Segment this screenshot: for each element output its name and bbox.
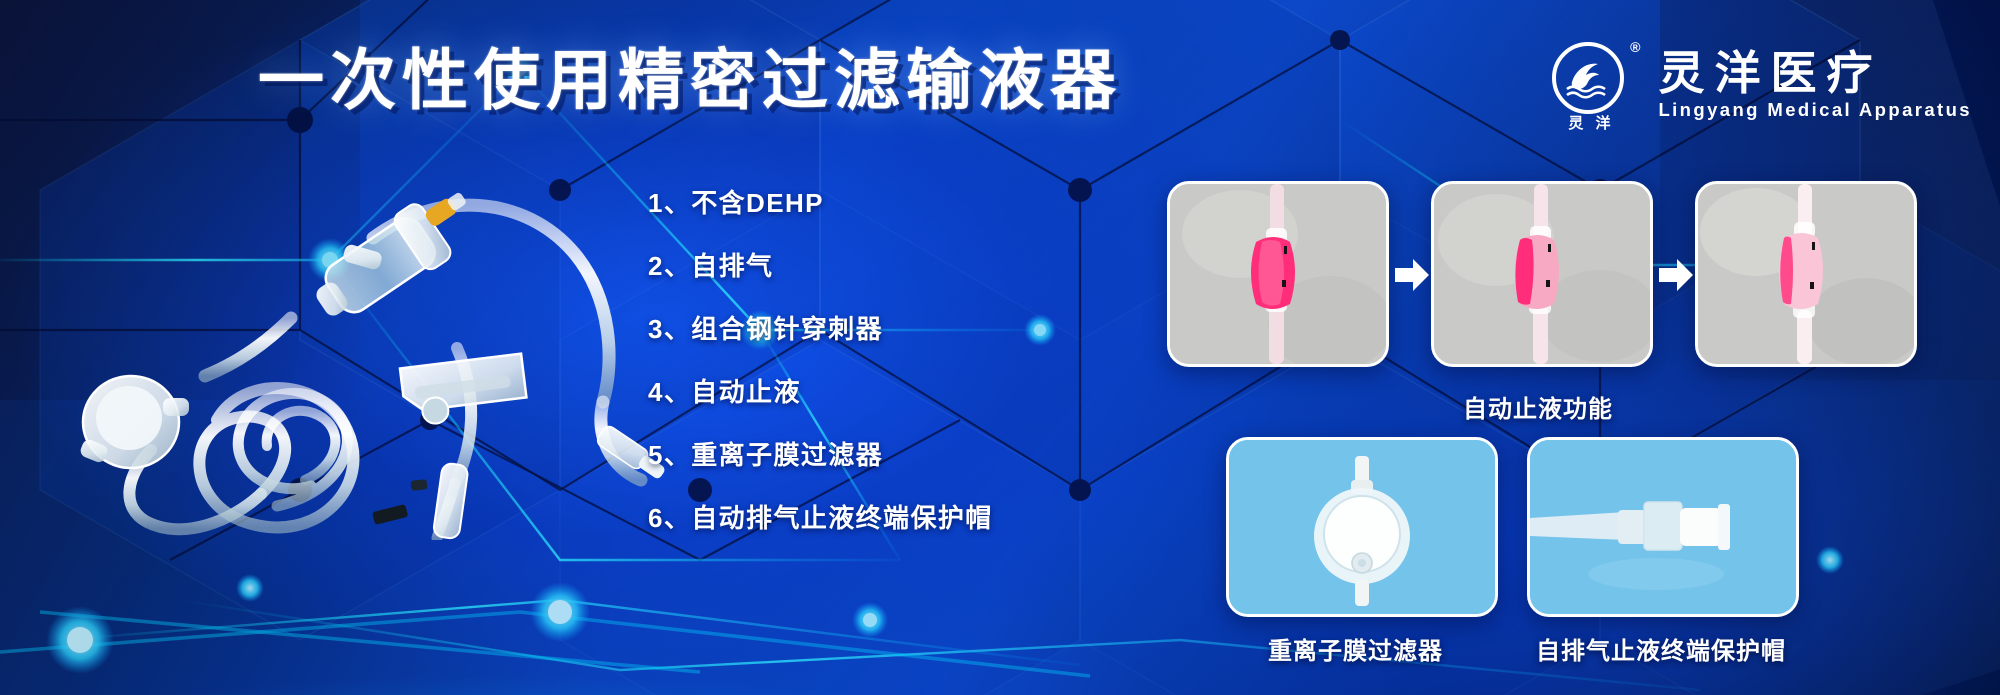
panel-heavy-ion-filter[interactable] — [1226, 437, 1498, 617]
feature-item-2: 2、自排气 — [648, 235, 993, 298]
logo-mark: ® 灵洋 — [1552, 42, 1638, 128]
brand-name-en: Lingyang Medical Apparatus — [1658, 99, 1972, 121]
caption-heavy-ion-filter: 重离子膜过滤器 — [1268, 631, 1443, 666]
panel-auto-stop-step-3[interactable] — [1695, 181, 1917, 367]
end-protection-cap-photo — [1530, 440, 1796, 614]
feature-item-3: 3、组合钢针穿刺器 — [648, 298, 993, 361]
wave-fish-icon — [1559, 49, 1617, 107]
product-banner: 一次性使用精密过滤输液器 ® 灵洋 灵洋医疗 Lingyang Medical … — [0, 0, 2000, 695]
feature-item-6: 6、自动排气止液终端保护帽 — [648, 487, 993, 550]
logo-emblem-icon — [1552, 42, 1624, 114]
registered-trademark-icon: ® — [1630, 40, 1640, 54]
caption-end-protection-cap: 自排气止液终端保护帽 — [1536, 631, 1786, 666]
logo-mark-caption-left: 灵 — [1568, 115, 1595, 132]
feature-item-4: 4、自动止液 — [648, 361, 993, 424]
product-photo — [55, 150, 675, 540]
logo-mark-caption-right: 洋 — [1595, 115, 1622, 132]
page-title: 一次性使用精密过滤输液器 — [258, 46, 1122, 115]
logo-text: 灵洋医疗 Lingyang Medical Apparatus — [1658, 49, 1972, 121]
heavy-ion-filter-photo — [1229, 440, 1495, 614]
logo-mark-caption: 灵洋 — [1552, 112, 1638, 133]
drip-chamber-full-photo — [1170, 184, 1386, 364]
drip-chamber-empty-photo — [1698, 184, 1914, 364]
brand-logo[interactable]: ® 灵洋 灵洋医疗 Lingyang Medical Apparatus — [1552, 42, 1972, 128]
caption-auto-stop: 自动止液功能 — [1463, 389, 1613, 424]
feature-list: 1、不含DEHP 2、自排气 3、组合钢针穿刺器 4、自动止液 5、重离子膜过滤… — [648, 172, 993, 550]
drip-chamber-partial-photo — [1434, 184, 1650, 364]
feature-item-1: 1、不含DEHP — [648, 172, 993, 235]
sequence-arrow-2-icon — [1653, 253, 1697, 297]
brand-name-cn: 灵洋医疗 — [1658, 49, 1972, 97]
feature-item-5: 5、重离子膜过滤器 — [648, 424, 993, 487]
infusion-set-illustration — [55, 150, 675, 540]
panel-end-protection-cap[interactable] — [1527, 437, 1799, 617]
panel-auto-stop-step-2[interactable] — [1431, 181, 1653, 367]
title-block: 一次性使用精密过滤输液器 — [258, 46, 1122, 115]
panel-auto-stop-step-1[interactable] — [1167, 181, 1389, 367]
sequence-arrow-1-icon — [1389, 253, 1433, 297]
